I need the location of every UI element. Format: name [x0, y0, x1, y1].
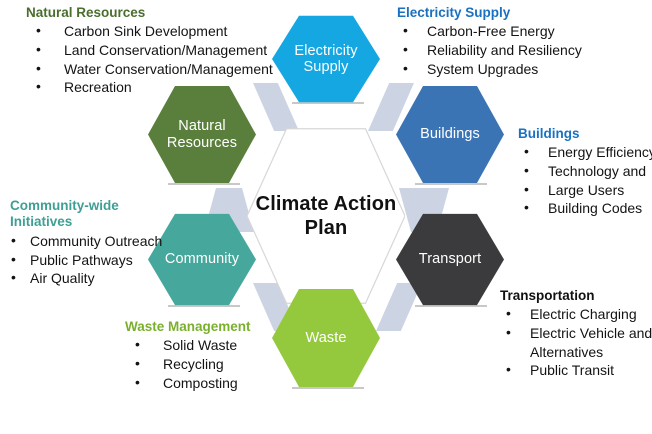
list-item: Energy Efficiency [518, 143, 652, 162]
hex-community-fill: Community [148, 212, 256, 307]
note-waste-management: Waste Management Solid Waste Recycling C… [125, 319, 251, 392]
hex-waste-label: Waste [299, 330, 352, 346]
hex-buildings[interactable]: Buildings [396, 84, 504, 185]
list-item: Solid Waste [125, 336, 251, 355]
hex-center-climate-action-plan[interactable]: Climate Action Plan [247, 127, 405, 305]
note-natural-resources-list: Carbon Sink Development Land Conservatio… [26, 22, 273, 96]
hex-transport[interactable]: Transport [396, 212, 504, 307]
hex-buildings-fill: Buildings [396, 84, 504, 185]
hex-community-label: Community [159, 251, 245, 267]
list-item: Technology and [518, 162, 652, 181]
hex-waste-fill: Waste [272, 287, 380, 389]
note-buildings: Buildings Energy Efficiency Technology a… [518, 126, 652, 218]
list-item: Recycling [125, 355, 251, 374]
hex-waste[interactable]: Waste [272, 287, 380, 389]
hex-electricity-fill: Electricity Supply [272, 14, 380, 104]
hex-electricity-supply[interactable]: Electricity Supply [272, 14, 380, 104]
list-item: Reliability and Resiliency [397, 41, 582, 60]
note-electricity-supply-title: Electricity Supply [397, 5, 582, 21]
hex-natural-fill: Natural Resources [148, 84, 256, 185]
list-item: Water Conservation/Management [26, 60, 273, 79]
hex-community[interactable]: Community [148, 212, 256, 307]
note-transportation-list: Electric Charging Electric Vehicle and A… [500, 305, 652, 379]
note-electricity-supply-list: Carbon-Free Energy Reliability and Resil… [397, 22, 582, 78]
hex-electricity-label: Electricity Supply [272, 43, 380, 75]
list-item: Building Codes [518, 199, 652, 218]
note-natural-resources-title: Natural Resources [26, 5, 273, 21]
note-waste-management-title: Waste Management [125, 319, 251, 335]
hex-transport-fill: Transport [396, 212, 504, 307]
list-item: Electric Charging [500, 305, 652, 324]
list-item: System Upgrades [397, 60, 582, 79]
note-transportation-title: Transportation [500, 288, 652, 304]
hex-natural-label: Natural Resources [148, 118, 256, 150]
hex-transport-label: Transport [413, 251, 487, 267]
hex-natural-resources[interactable]: Natural Resources [148, 84, 256, 185]
note-community-wide-initiatives-title: Community-wide Initiatives [10, 198, 162, 231]
note-electricity-supply: Electricity Supply Carbon-Free Energy Re… [397, 5, 582, 78]
climate-action-plan-diagram: Climate Action Plan Electricity Supply B… [0, 0, 652, 434]
hex-buildings-label: Buildings [414, 126, 486, 142]
note-natural-resources: Natural Resources Carbon Sink Developmen… [26, 5, 273, 97]
note-community-wide-initiatives-list: Community Outreach Public Pathways Air Q… [10, 232, 162, 288]
list-item: Land Conservation/Management [26, 41, 273, 60]
note-transportation: Transportation Electric Charging Electri… [500, 288, 652, 380]
note-community-wide-initiatives: Community-wide Initiatives Community Out… [10, 198, 162, 288]
list-item: Large Users [518, 181, 652, 200]
list-item: Electric Vehicle and Alternatives [500, 324, 652, 361]
list-item: Public Pathways [10, 251, 162, 270]
list-item: Recreation [26, 78, 273, 97]
list-item: Carbon-Free Energy [397, 22, 582, 41]
list-item: Carbon Sink Development [26, 22, 273, 41]
list-item: Air Quality [10, 269, 162, 288]
list-item: Public Transit [500, 361, 652, 380]
note-buildings-list: Energy Efficiency Technology and Large U… [518, 143, 652, 217]
note-buildings-title: Buildings [518, 126, 652, 142]
hex-center-fill: Climate Action Plan [247, 127, 405, 305]
list-item: Community Outreach [10, 232, 162, 251]
hex-center-label: Climate Action Plan [247, 192, 405, 241]
list-item: Composting [125, 374, 251, 393]
note-waste-management-list: Solid Waste Recycling Composting [125, 336, 251, 392]
